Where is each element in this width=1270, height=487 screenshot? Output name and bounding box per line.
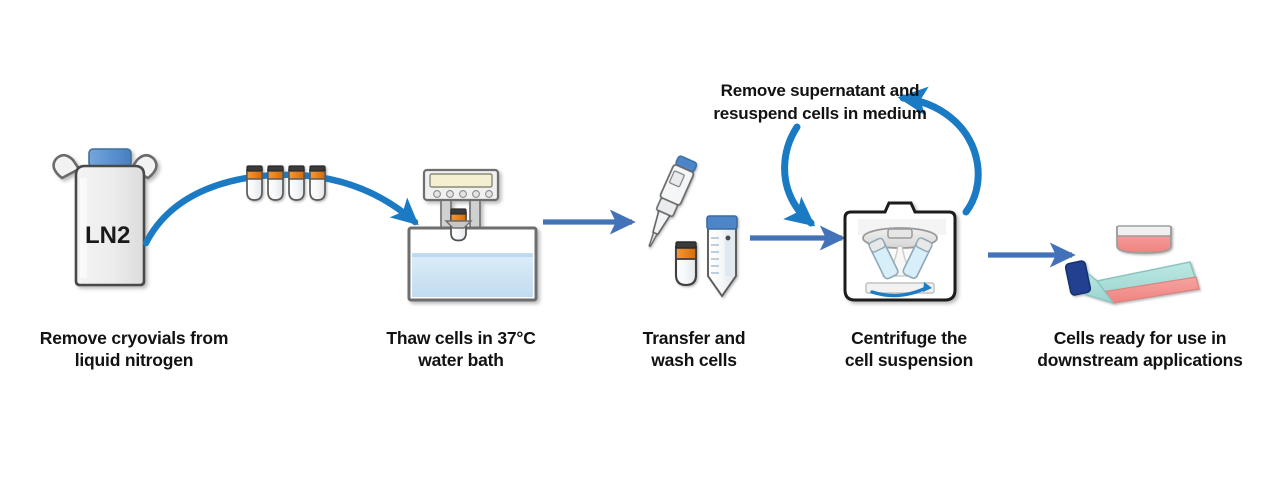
step-caption-culture: Cells ready for use in downstream applic… — [1018, 327, 1262, 371]
loop-annotation-label: Remove supernatant and resuspend cells i… — [660, 79, 980, 125]
step-caption-centrifuge: Centrifuge the cell suspension — [816, 327, 1002, 371]
step-caption-thaw: Thaw cells in 37°C water bath — [352, 327, 570, 371]
ln2-dewar-icon — [54, 149, 157, 285]
cryovial-rack-icon — [247, 166, 325, 200]
pipette-icon — [640, 155, 699, 251]
water-bath-icon — [409, 170, 536, 300]
step-caption-cryostorage: Remove cryovials from liquid nitrogen — [16, 327, 252, 371]
cryovial-icon — [676, 242, 696, 285]
petri-dish-icon — [1117, 226, 1171, 253]
conical-tube-icon — [707, 216, 737, 296]
dewar-label: LN2 — [85, 222, 130, 250]
centrifuge-icon — [845, 203, 955, 300]
workflow-diagram: LN2 Remove supernatant and resuspend cel… — [0, 0, 1270, 487]
label-to-centrifuge — [785, 127, 811, 223]
diagram-canvas — [0, 0, 1270, 487]
culture-flask-icon — [1065, 260, 1199, 303]
step-caption-transfer: Transfer and wash cells — [608, 327, 780, 371]
